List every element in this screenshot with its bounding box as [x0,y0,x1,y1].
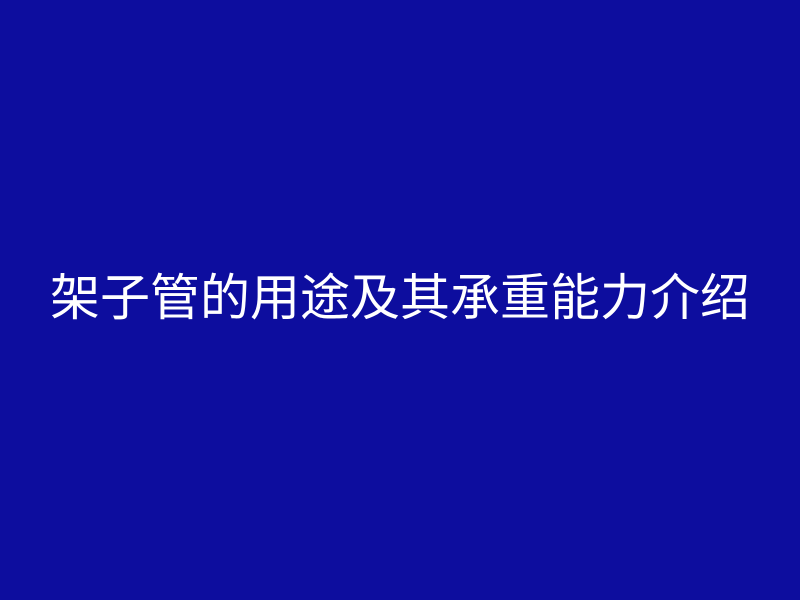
headline-block: 架子管的用途及其承重能力介绍 [0,0,800,600]
page-title: 架子管的用途及其承重能力介绍 [50,273,750,323]
title-card: 架子管的用途及其承重能力介绍 [0,0,800,600]
